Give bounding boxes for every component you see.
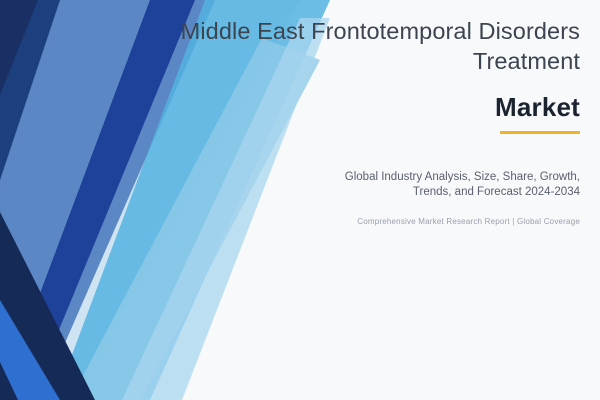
accent-rule-divider: [500, 131, 580, 134]
report-tagline: Comprehensive Market Research Report | G…: [120, 216, 580, 228]
page-title: Middle East Frontotemporal Disorders Tre…: [120, 16, 580, 76]
market-heading: Market: [120, 92, 580, 123]
report-subtitle: Global Industry Analysis, Size, Share, G…: [120, 170, 580, 200]
subtitle-line-2: Trends, and Forecast 2024-2034: [120, 185, 580, 200]
cover-text-block: Middle East Frontotemporal Disorders Tre…: [120, 16, 580, 228]
report-cover: Middle East Frontotemporal Disorders Tre…: [0, 0, 600, 400]
subtitle-line-1: Global Industry Analysis, Size, Share, G…: [120, 170, 580, 185]
